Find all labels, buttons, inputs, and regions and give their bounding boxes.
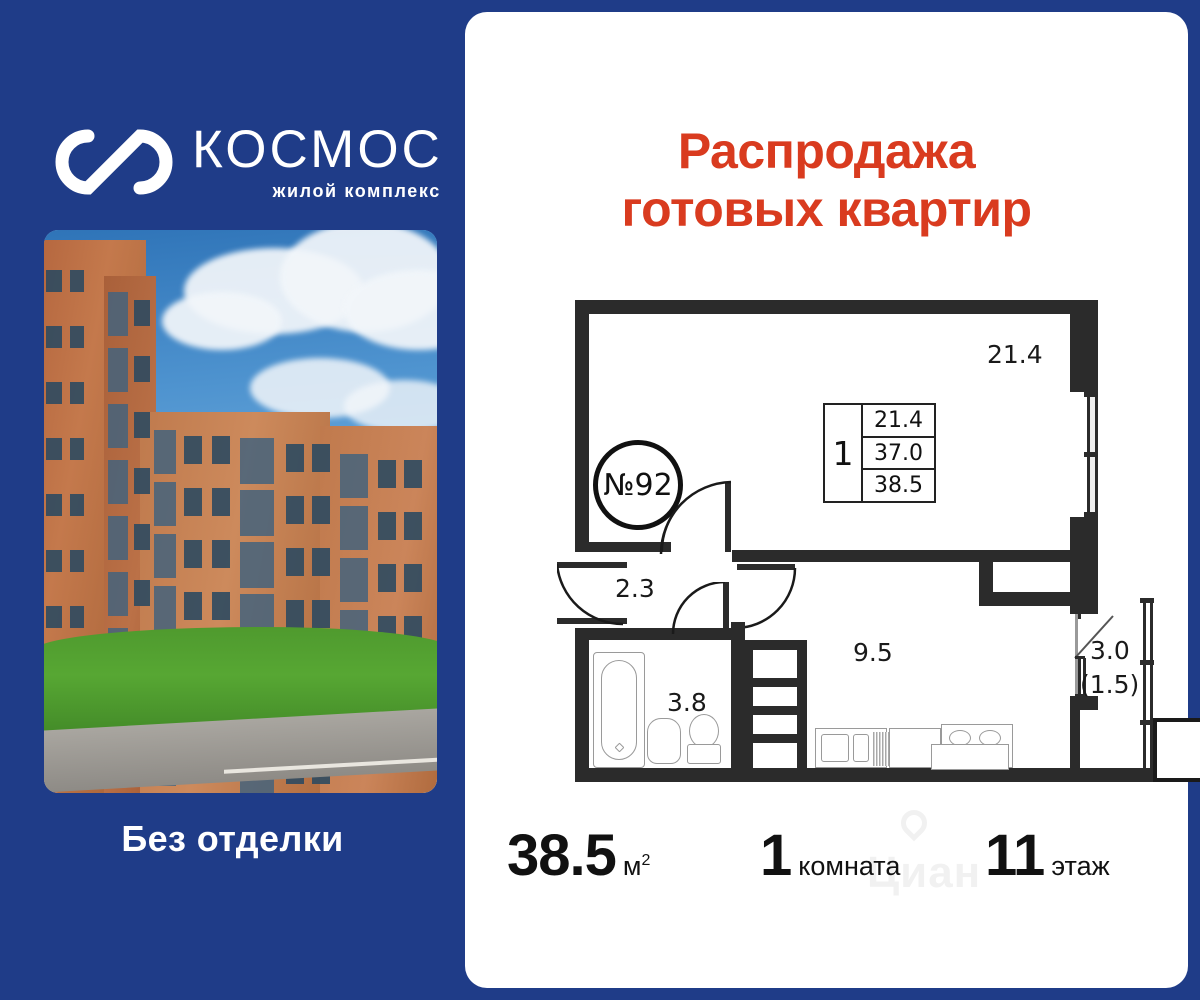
door-swing-living <box>659 480 735 556</box>
cloud-shape <box>162 292 282 350</box>
brand-wordmark: КОСМОС <box>192 120 443 180</box>
brand-text: КОСМОС жилой комплекс <box>192 120 443 202</box>
stat-rooms-value: 1 <box>760 822 791 889</box>
stat-rooms-label: комната <box>798 851 900 882</box>
area-table-values: 21.4 37.0 38.5 <box>863 405 934 501</box>
brand-logo: КОСМОС жилой комплекс <box>52 120 432 220</box>
stat-floor-value: 11 <box>985 822 1044 889</box>
floor-plan: 21.4 №92 1 21.4 37.0 38.5 2.3 <box>575 300 1145 790</box>
stat-total-area: 38.5 м2 <box>507 822 650 889</box>
stat-area-unit: м2 <box>623 851 650 882</box>
area-summary-table: 1 21.4 37.0 38.5 <box>823 403 936 503</box>
door-swing-bathroom <box>671 582 729 636</box>
headline-line-1: Распродажа <box>678 123 975 179</box>
headline-line-2: готовых квартир <box>465 180 1188 238</box>
finishing-caption: Без отделки <box>0 818 465 860</box>
area-table-value-total-living: 37.0 <box>863 436 934 469</box>
kitchen-table <box>931 744 1009 770</box>
kitchen-sink-bowl-2 <box>853 734 869 762</box>
stat-rooms: 1 комната <box>760 822 900 889</box>
area-table-value-living: 21.4 <box>863 405 934 436</box>
infinity-icon <box>52 126 178 198</box>
stat-area-value: 38.5 <box>507 822 616 889</box>
apartment-stats: 38.5 м2 1 комната 11 этаж <box>465 822 1188 902</box>
balcony-open-sash <box>1153 718 1200 782</box>
room-area-kitchen: 9.5 <box>853 638 893 667</box>
door-swing-entrance <box>557 562 629 628</box>
advertisement-card: КОСМОС жилой комплекс <box>0 0 1200 1000</box>
residential-building-photo <box>44 230 437 793</box>
area-table-rooms: 1 <box>825 405 863 501</box>
area-table-value-total: 38.5 <box>863 468 934 501</box>
content-card: Распродажа готовых квартир <box>465 12 1188 988</box>
room-area-balcony: 3.0 <box>1090 636 1130 665</box>
kitchen-drainer <box>873 732 889 766</box>
toilet-tank <box>687 744 721 764</box>
room-area-balcony-coeff: (1.5) <box>1080 670 1139 699</box>
stat-floor: 11 этаж <box>985 822 1110 889</box>
left-panel: КОСМОС жилой комплекс <box>0 0 465 1000</box>
door-swing-kitchen <box>735 568 797 630</box>
room-area-bathroom: 3.8 <box>667 688 707 717</box>
washbasin-icon <box>647 718 681 764</box>
stat-floor-label: этаж <box>1051 851 1109 882</box>
brand-tagline: жилой комплекс <box>192 180 443 202</box>
page-title: Распродажа готовых квартир <box>465 122 1188 238</box>
toilet-icon <box>689 714 719 748</box>
room-area-living: 21.4 <box>987 340 1043 369</box>
kitchen-sink-bowl <box>821 734 849 762</box>
